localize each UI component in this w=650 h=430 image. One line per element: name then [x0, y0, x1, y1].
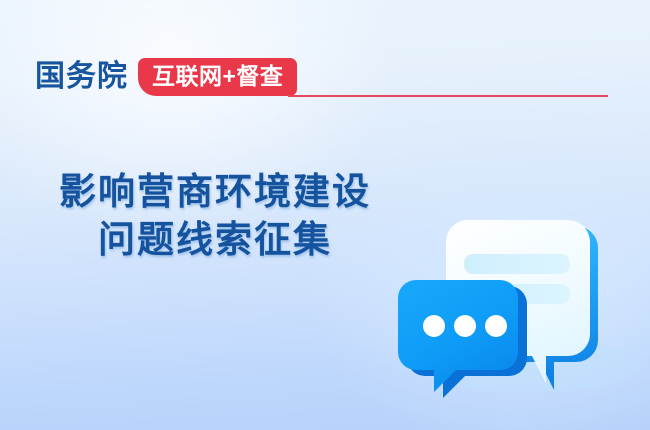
internet-supervision-badge: 互联网+督查 [138, 58, 297, 96]
chat-bubbles-illustration [398, 198, 650, 430]
page-title: 影响营商环境建设 问题线索征集 [0, 168, 430, 264]
back-bubble-text-line-1 [464, 254, 570, 274]
title-line-1: 影响营商环境建设 [0, 168, 430, 216]
typing-dot-1 [423, 315, 445, 337]
header-divider-rule [288, 95, 608, 97]
banner-root: 国务院 互联网+督查 影响营商环境建设 问题线索征集 [0, 0, 650, 430]
gov-label: 国务院 [35, 62, 128, 92]
header: 国务院 互联网+督查 [35, 57, 297, 97]
title-line-2: 问题线索征集 [0, 216, 430, 264]
typing-dot-3 [485, 315, 507, 337]
typing-dot-2 [454, 315, 476, 337]
